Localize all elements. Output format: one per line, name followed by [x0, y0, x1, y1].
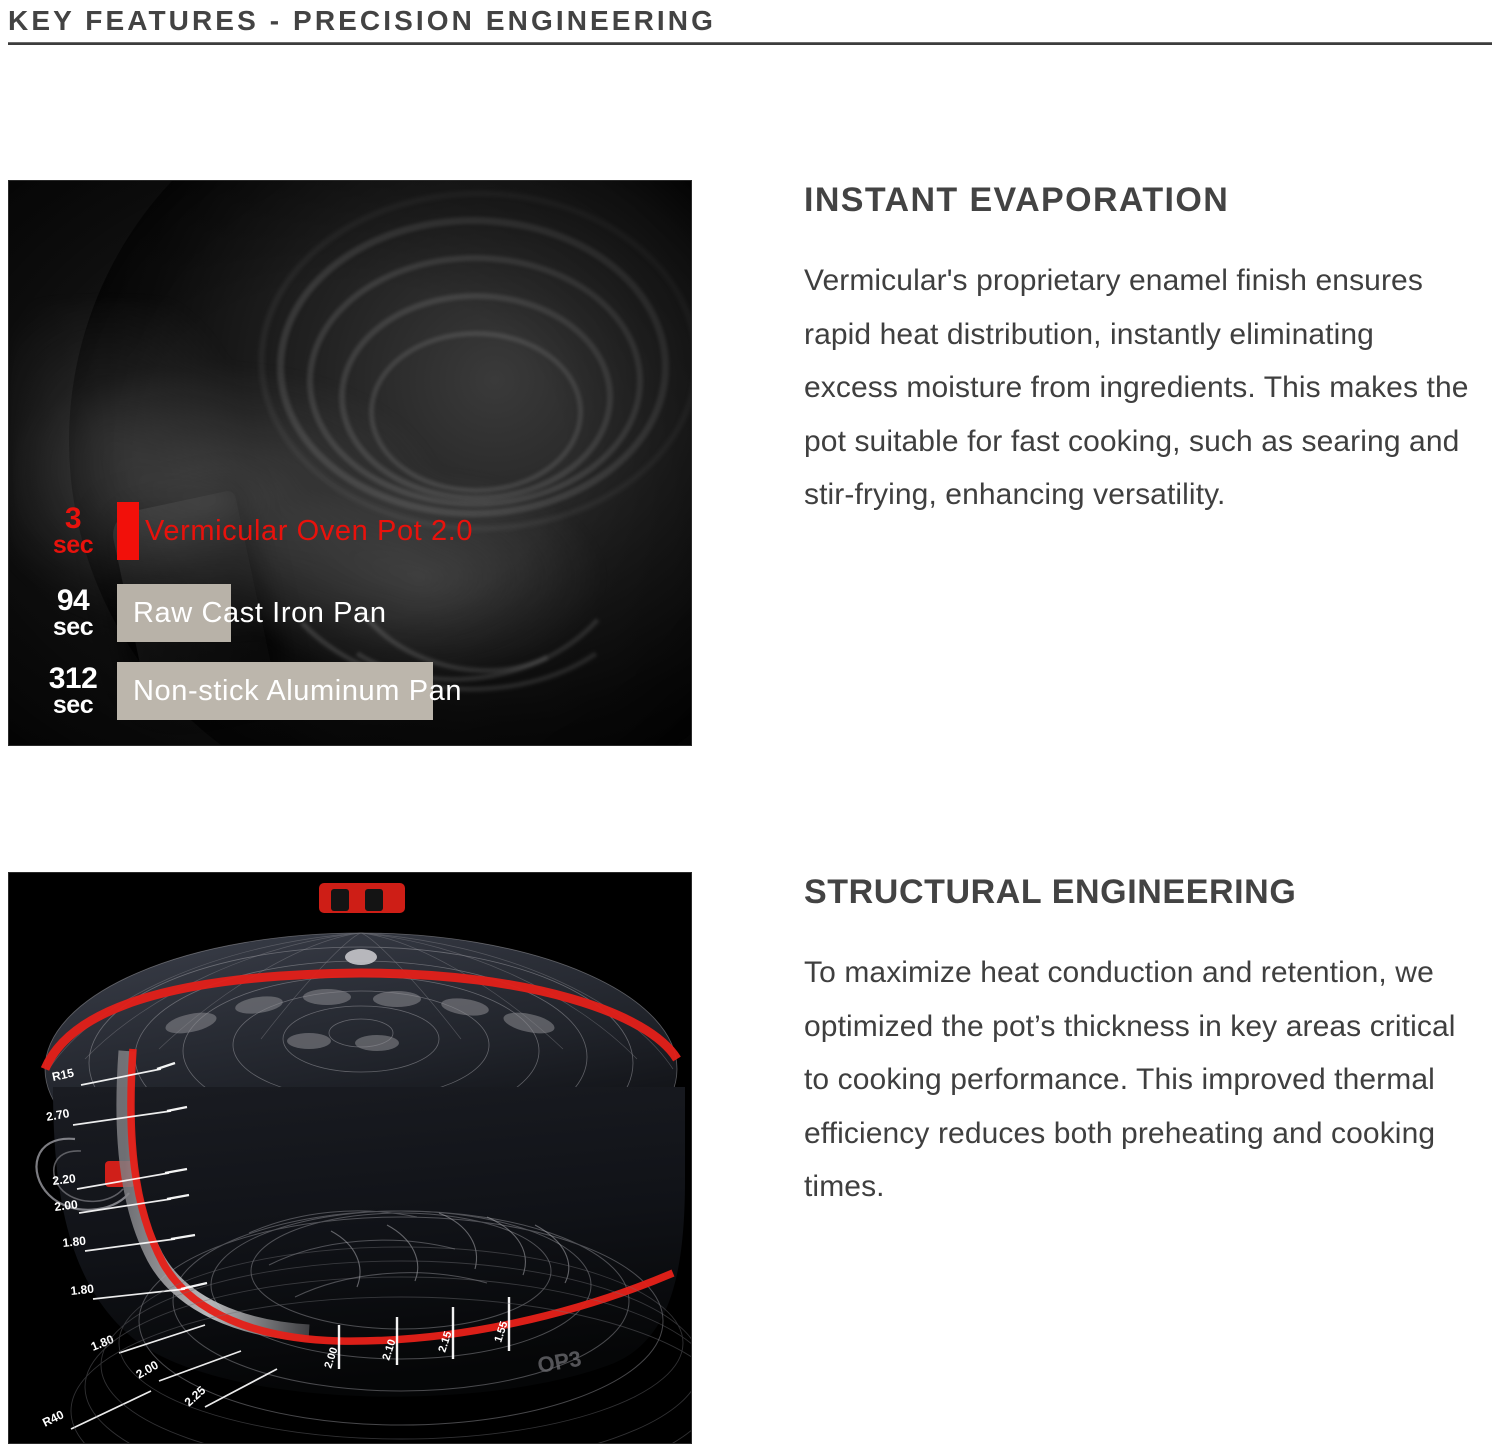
bar-value-label: 94 sec: [29, 587, 117, 640]
bar-value-number: 312: [29, 665, 117, 694]
chart-row: 94 sec Raw Cast Iron Pan: [29, 581, 231, 645]
svg-text:2.00: 2.00: [54, 1197, 79, 1214]
page-title: KEY FEATURES - PRECISION ENGINEERING: [8, 0, 1492, 38]
page-header: KEY FEATURES - PRECISION ENGINEERING: [8, 0, 1492, 48]
feature-title: INSTANT EVAPORATION: [804, 180, 1476, 220]
bar-value-label: 3 sec: [29, 505, 117, 558]
bar-fill: [117, 502, 139, 560]
chart-row: 3 sec Vermicular Oven Pot 2.0: [29, 499, 139, 563]
feature-block-structural-engineering: R15 2.70 2.20 2.00 1.80 1.80 1.80 2.00 2…: [0, 872, 1500, 1444]
svg-text:1.80: 1.80: [62, 1234, 87, 1250]
bar-value-unit: sec: [29, 533, 117, 557]
bar-value-unit: sec: [29, 693, 117, 717]
bar-track: Non-stick Aluminum Pan: [117, 662, 433, 720]
bar-track: Vermicular Oven Pot 2.0: [117, 502, 139, 560]
feature-image-steaming-pot: 3 sec Vermicular Oven Pot 2.0 94 sec: [8, 180, 692, 746]
bar-track: Raw Cast Iron Pan: [117, 584, 231, 642]
bar-value-number: 3: [29, 505, 117, 534]
chart-row: 312 sec Non-stick Aluminum Pan: [29, 659, 433, 723]
cad-wireframe-svg: R15 2.70 2.20 2.00 1.80 1.80 1.80 2.00 2…: [9, 873, 691, 1443]
evaporation-bar-chart: 3 sec Vermicular Oven Pot 2.0 94 sec: [29, 499, 549, 729]
bar-category-label: Non-stick Aluminum Pan: [133, 675, 462, 708]
bar-category-label: Raw Cast Iron Pan: [133, 597, 387, 630]
feature-body: Vermicular's proprietary enamel finish e…: [804, 254, 1476, 522]
bar-value-unit: sec: [29, 615, 117, 639]
bar-value-label: 312 sec: [29, 665, 117, 718]
feature-title: STRUCTURAL ENGINEERING: [804, 872, 1476, 912]
bar-category-label: Vermicular Oven Pot 2.0: [145, 515, 473, 548]
photo-cad-wireframe: R15 2.70 2.20 2.00 1.80 1.80 1.80 2.00 2…: [9, 873, 691, 1443]
feature-text-column: INSTANT EVAPORATION Vermicular's proprie…: [804, 180, 1476, 522]
feature-block-instant-evaporation: 3 sec Vermicular Oven Pot 2.0 94 sec: [0, 180, 1500, 746]
svg-text:2.20: 2.20: [52, 1171, 77, 1188]
header-divider: [8, 42, 1492, 45]
feature-text-column: STRUCTURAL ENGINEERING To maximize heat …: [804, 872, 1476, 1214]
bar-value-number: 94: [29, 587, 117, 616]
svg-text:1.80: 1.80: [70, 1282, 95, 1298]
feature-image-cad-wireframe: R15 2.70 2.20 2.00 1.80 1.80 1.80 2.00 2…: [8, 872, 692, 1444]
feature-body: To maximize heat conduction and retentio…: [804, 946, 1476, 1214]
key-features-page: KEY FEATURES - PRECISION ENGINEERING: [0, 0, 1500, 1444]
